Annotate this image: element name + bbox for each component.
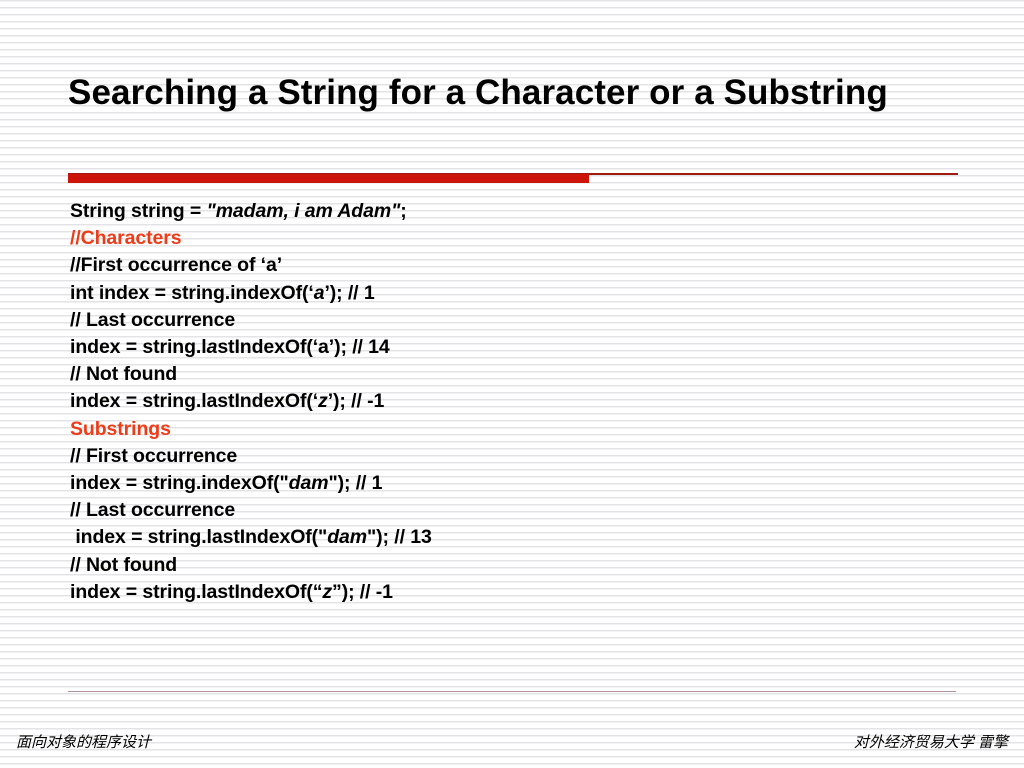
slide: Searching a String for a Character or a … — [0, 0, 1024, 768]
code-line: index = string.lastIndexOf(‘z’); // -1 — [70, 388, 970, 415]
footer-divider — [68, 691, 956, 692]
code-line: index = string.lastIndexOf(‘a’); // 14 — [70, 334, 970, 361]
code-line: // Not found — [70, 552, 970, 579]
code-line: //Characters — [70, 225, 970, 252]
code-block: String string = "madam, i am Adam";//Cha… — [70, 198, 970, 606]
code-line: // Last occurrence — [70, 307, 970, 334]
slide-content: Searching a String for a Character or a … — [0, 0, 1024, 768]
code-line: int index = string.indexOf(‘a’); // 1 — [70, 280, 970, 307]
code-line: index = string.lastIndexOf(“z”); // -1 — [70, 579, 970, 606]
code-line: index = string.lastIndexOf("dam"); // 13 — [70, 524, 970, 551]
code-line: index = string.indexOf("dam"); // 1 — [70, 470, 970, 497]
code-line: // Not found — [70, 361, 970, 388]
code-line: // Last occurrence — [70, 497, 970, 524]
footer-institution: 对外经济贸易大学 雷擎 — [854, 731, 1008, 752]
code-line: String string = "madam, i am Adam"; — [70, 198, 970, 225]
footer-course-name: 面向对象的程序设计 — [16, 731, 151, 752]
code-line: // First occurrence — [70, 443, 970, 470]
code-line: //First occurrence of ‘a’ — [70, 252, 970, 279]
title-underline-thick — [68, 174, 589, 183]
code-line: Substrings — [70, 416, 970, 443]
page-title: Searching a String for a Character or a … — [68, 70, 968, 116]
